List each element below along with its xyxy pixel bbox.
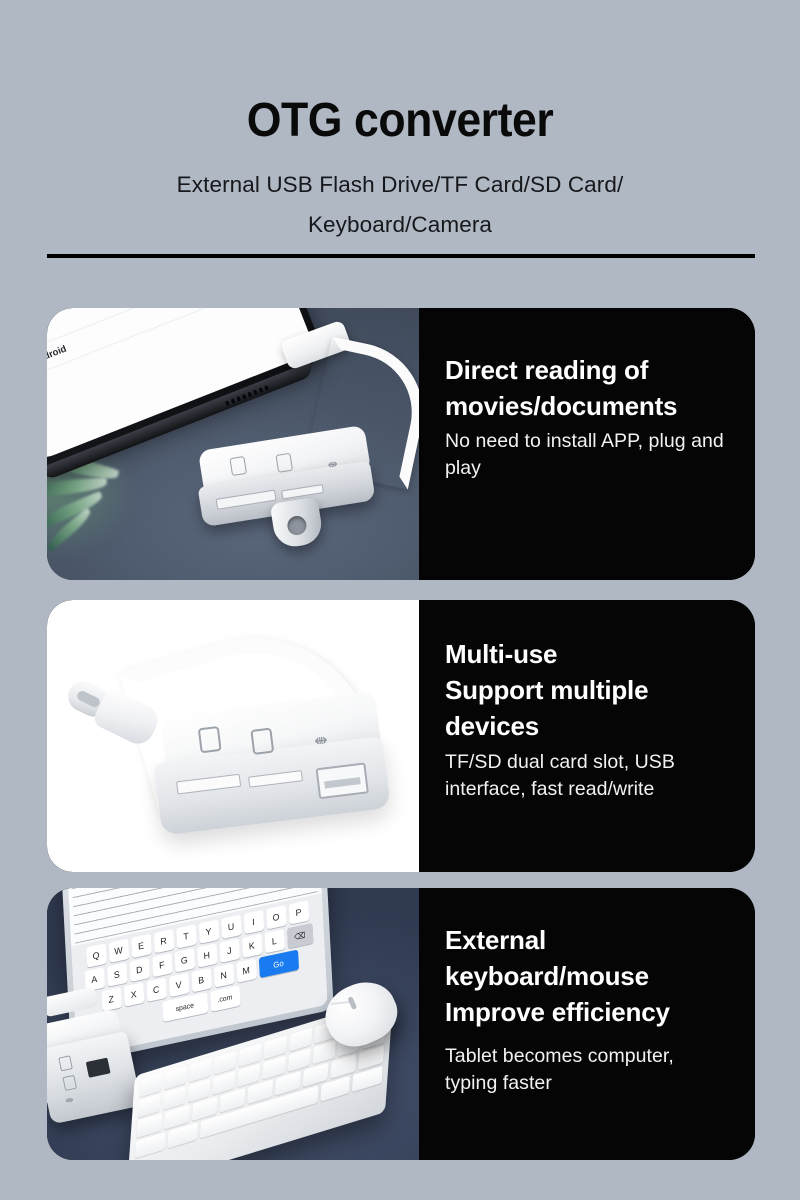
tf-card-icon: [250, 728, 274, 755]
usb-icon: ⇼: [313, 733, 328, 751]
card-heading-line-2: Support multiple: [445, 675, 648, 705]
key-g[interactable]: G: [174, 948, 195, 972]
card-heading-line-3: devices: [445, 711, 539, 741]
usb-flash-drive: [270, 497, 325, 550]
card-body: No need to install APP, plug and play: [445, 428, 729, 482]
card-heading-line-2: movies/documents: [445, 391, 677, 421]
sd-card-icon: [58, 1055, 73, 1071]
key-delete[interactable]: ⌫: [286, 923, 312, 949]
key-v[interactable]: V: [168, 973, 189, 997]
key-q[interactable]: Q: [86, 943, 107, 967]
page-subtitle: External USB Flash Drive/TF Card/SD Card…: [70, 165, 730, 245]
key-d[interactable]: D: [129, 958, 150, 982]
file-name: Android: [47, 344, 68, 368]
feature-text-panel: Direct reading of movies/documents No ne…: [419, 308, 755, 580]
card-heading-line-1: Direct reading of: [445, 355, 648, 385]
card-heading: Direct reading of movies/documents: [445, 352, 729, 424]
key-k[interactable]: K: [241, 934, 262, 958]
key-c[interactable]: C: [146, 978, 167, 1002]
key-t[interactable]: T: [176, 924, 197, 948]
product-photo-adapter-white: ⇼: [47, 600, 419, 872]
card-heading-line-3: Improve efficiency: [445, 997, 670, 1027]
card-heading: External keyboard/mouse Improve efficien…: [445, 922, 729, 1030]
usb-icon: ⇼: [327, 457, 343, 471]
product-infographic: OTG converter External USB Flash Drive/T…: [0, 0, 800, 1200]
key-m[interactable]: M: [236, 958, 257, 982]
feature-card-multi-use: ⇼ Multi-use Support multiple devices TF/…: [47, 600, 755, 872]
key-o[interactable]: O: [266, 905, 287, 929]
key-n[interactable]: N: [213, 963, 234, 987]
sd-card-icon: [198, 726, 222, 753]
card-heading-line-1: External: [445, 925, 546, 955]
key-r[interactable]: R: [153, 929, 174, 953]
feature-text-panel: External keyboard/mouse Improve efficien…: [419, 888, 755, 1160]
key-dotcom[interactable]: .com: [210, 985, 240, 1011]
subtitle-line-2: Keyboard/Camera: [308, 212, 492, 237]
card-body: Tablet becomes computer, typing faster: [445, 1043, 729, 1097]
key-u[interactable]: U: [221, 915, 242, 939]
key-h[interactable]: H: [196, 943, 217, 967]
card-heading-line-1: Multi-use: [445, 639, 557, 669]
feature-card-external-keyboard: Q W E R T Y U I O P A: [47, 888, 755, 1160]
page-title: OTG converter: [28, 93, 772, 148]
header: OTG converter External USB Flash Drive/T…: [0, 0, 800, 270]
tf-card-icon: [62, 1075, 77, 1091]
key-p[interactable]: P: [288, 900, 309, 924]
key-s[interactable]: S: [106, 962, 127, 986]
key-f[interactable]: F: [151, 953, 172, 977]
card-heading-line-2: keyboard/mouse: [445, 961, 649, 991]
product-photo-phone-adapter: alipay 202 aliUnion_t 2019.12 amap 2020.…: [47, 308, 419, 580]
sd-card-icon: [229, 456, 247, 476]
card-heading: Multi-use Support multiple devices: [445, 636, 729, 744]
key-l[interactable]: L: [264, 929, 285, 953]
product-photo-tablet-keyboard: Q W E R T Y U I O P A: [47, 888, 419, 1160]
tf-card-icon: [275, 453, 293, 473]
usb-icon: ⇼: [65, 1096, 75, 1108]
key-y[interactable]: Y: [198, 919, 219, 943]
feature-card-direct-reading: alipay 202 aliUnion_t 2019.12 amap 2020.…: [47, 308, 755, 580]
feature-text-panel: Multi-use Support multiple devices TF/SD…: [419, 600, 755, 872]
key-b[interactable]: B: [191, 968, 212, 992]
key-e[interactable]: E: [131, 934, 152, 958]
subtitle-line-1: External USB Flash Drive/TF Card/SD Card…: [177, 172, 624, 197]
adapter-front-face: [47, 1031, 142, 1124]
key-w[interactable]: W: [108, 939, 129, 963]
key-j[interactable]: J: [219, 939, 240, 963]
card-body: TF/SD dual card slot, USB interface, fas…: [445, 749, 729, 803]
key-i[interactable]: I: [243, 910, 264, 934]
header-divider: [47, 254, 755, 258]
usb-a-port: [316, 762, 369, 799]
file-name: amap: [47, 324, 48, 343]
key-x[interactable]: X: [123, 982, 144, 1006]
